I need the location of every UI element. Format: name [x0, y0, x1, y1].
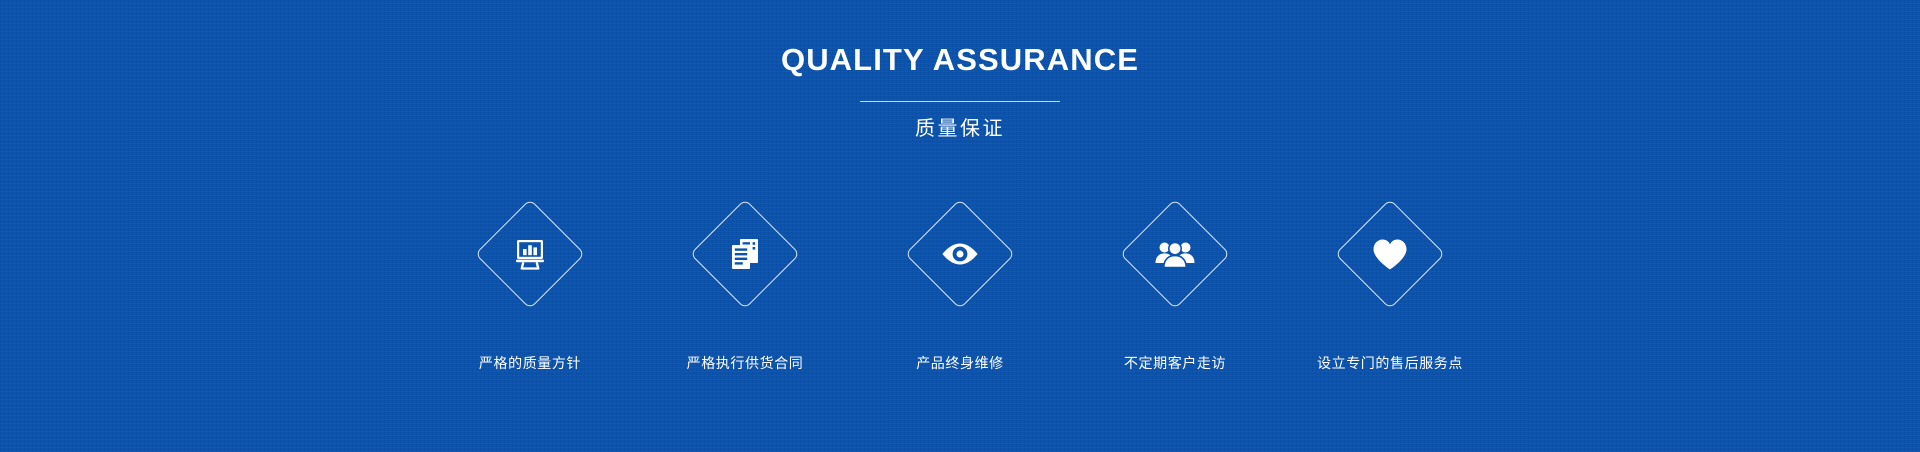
diamond-badge [904, 198, 1016, 310]
heading-block: QUALITY ASSURANCE 质量保证 [0, 40, 1920, 143]
quality-assurance-banner: QUALITY ASSURANCE 质量保证 [0, 0, 1920, 452]
feature-item[interactable]: 严格执行供货合同 [638, 198, 853, 373]
feature-label: 不定期客户走访 [1124, 353, 1226, 373]
feature-list: 严格的质量方针 [0, 198, 1920, 373]
user-group-icon [1153, 232, 1197, 276]
heart-icon [1368, 232, 1412, 276]
feature-label: 严格执行供货合同 [687, 353, 804, 373]
feature-label: 严格的质量方针 [479, 353, 581, 373]
page-title-english: QUALITY ASSURANCE [0, 40, 1920, 80]
diamond-badge [1334, 198, 1446, 310]
feature-item[interactable]: 产品终身维修 [853, 198, 1068, 373]
page-title-chinese: 质量保证 [0, 115, 1920, 143]
diamond-badge [689, 198, 801, 310]
presentation-chart-icon [508, 232, 552, 276]
diamond-badge [474, 198, 586, 310]
feature-item[interactable]: 设立专门的售后服务点 [1283, 198, 1498, 373]
diamond-badge [1119, 198, 1231, 310]
eye-icon [938, 232, 982, 276]
documents-stack-icon [723, 232, 767, 276]
feature-label: 产品终身维修 [916, 353, 1004, 373]
title-divider [860, 101, 1060, 102]
feature-item[interactable]: 严格的质量方针 [423, 198, 638, 373]
banner-content: QUALITY ASSURANCE 质量保证 [0, 0, 1920, 452]
feature-item[interactable]: 不定期客户走访 [1068, 198, 1283, 373]
feature-label: 设立专门的售后服务点 [1317, 353, 1463, 373]
